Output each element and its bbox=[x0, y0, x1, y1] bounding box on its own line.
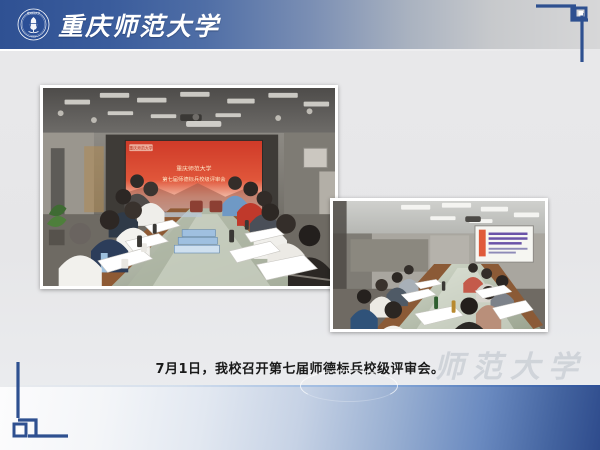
bottom-band-swoosh bbox=[300, 370, 398, 402]
university-seal-icon: 重庆师范大学 1954 bbox=[17, 8, 50, 41]
bottom-left-corner-ornament bbox=[6, 362, 68, 442]
university-name-title: 重庆师范大学 bbox=[58, 2, 220, 48]
background-watermark: 师范大学 bbox=[434, 342, 586, 386]
header-underline bbox=[0, 49, 600, 51]
svg-text:重庆师范大学: 重庆师范大学 bbox=[176, 165, 211, 173]
meeting-room-wide-photo[interactable]: 重庆师范大学 重庆师范大学 第七届师德标兵校级评审会 bbox=[40, 85, 338, 289]
meeting-room-second-photo[interactable] bbox=[330, 198, 548, 332]
svg-text:重庆师范大学: 重庆师范大学 bbox=[27, 11, 41, 15]
svg-text:第七届师德标兵校级评审会: 第七届师德标兵校级评审会 bbox=[162, 175, 226, 183]
top-right-corner-ornament bbox=[536, 0, 592, 62]
bottom-band bbox=[0, 387, 600, 450]
svg-text:重庆师范大学: 重庆师范大学 bbox=[129, 146, 153, 151]
slide-canvas: 重庆师范大学 1954 重庆师范大学 bbox=[0, 0, 600, 450]
